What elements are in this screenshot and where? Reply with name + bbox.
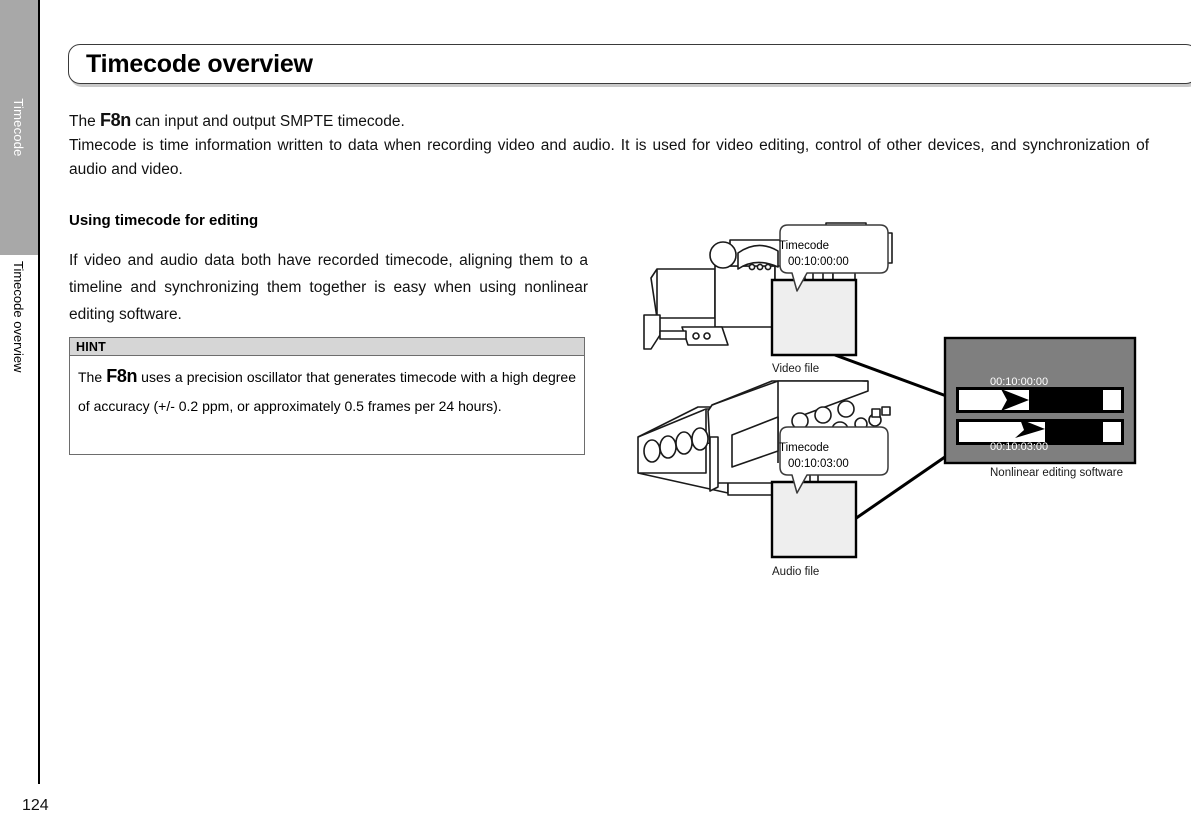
sidebar-tab-label: Timecode (0, 0, 38, 255)
sidebar-divider-line (38, 0, 40, 784)
hint-body: The F8n uses a precision oscillator that… (70, 356, 584, 421)
timeline-track-video (956, 387, 1124, 413)
brand-f8n-hint: F8n (106, 366, 137, 386)
hint-box: HINT The F8n uses a precision oscillator… (69, 337, 585, 455)
camera-callout-label: Timecode (779, 240, 829, 252)
hint-title: HINT (76, 340, 106, 354)
subheading-using-timecode-for-editing: Using timecode for editing (69, 212, 258, 229)
hint-header: HINT (70, 338, 584, 356)
intro-line-1: The F8n can input and output SMPTE timec… (69, 108, 1149, 134)
sidebar-section-label-text: Timecode overview (0, 255, 38, 485)
video-file-label: Video file (772, 363, 819, 375)
intro-line-2: Timecode is time information written to … (69, 134, 1149, 182)
camera-callout-value: 00:10:00:00 (788, 256, 849, 268)
recorder-callout-label: Timecode (779, 442, 829, 454)
hint-body-post: uses a precision oscillator that generat… (78, 369, 576, 414)
intro-line1-pre: The (69, 113, 100, 130)
sidebar-tab-timecode[interactable]: Timecode (0, 0, 38, 255)
brand-f8n: F8n (100, 110, 131, 130)
timeline-video-time: 00:10:00:00 (990, 376, 1048, 388)
nle-label: Nonlinear editing software (990, 467, 1123, 479)
recorder-callout-value: 00:10:03:00 (788, 458, 849, 470)
diagram-svg (620, 205, 1180, 600)
sidebar-rail: Timecode Timecode overview (0, 0, 38, 839)
video-file-box (772, 280, 856, 355)
timecode-workflow-diagram (620, 205, 1180, 600)
intro-paragraph: The F8n can input and output SMPTE timec… (69, 108, 1149, 182)
intro-line1-post: can input and output SMPTE timecode. (131, 113, 405, 130)
editing-paragraph: If video and audio data both have record… (69, 247, 588, 328)
hint-body-pre: The (78, 369, 106, 385)
audio-file-box (772, 482, 856, 557)
page-number: 124 (22, 797, 49, 815)
audio-file-label: Audio file (772, 566, 819, 578)
page-title: Timecode overview (86, 50, 313, 79)
sidebar-section-label: Timecode overview (0, 255, 38, 485)
timeline-audio-time: 00:10:03:00 (990, 441, 1048, 453)
